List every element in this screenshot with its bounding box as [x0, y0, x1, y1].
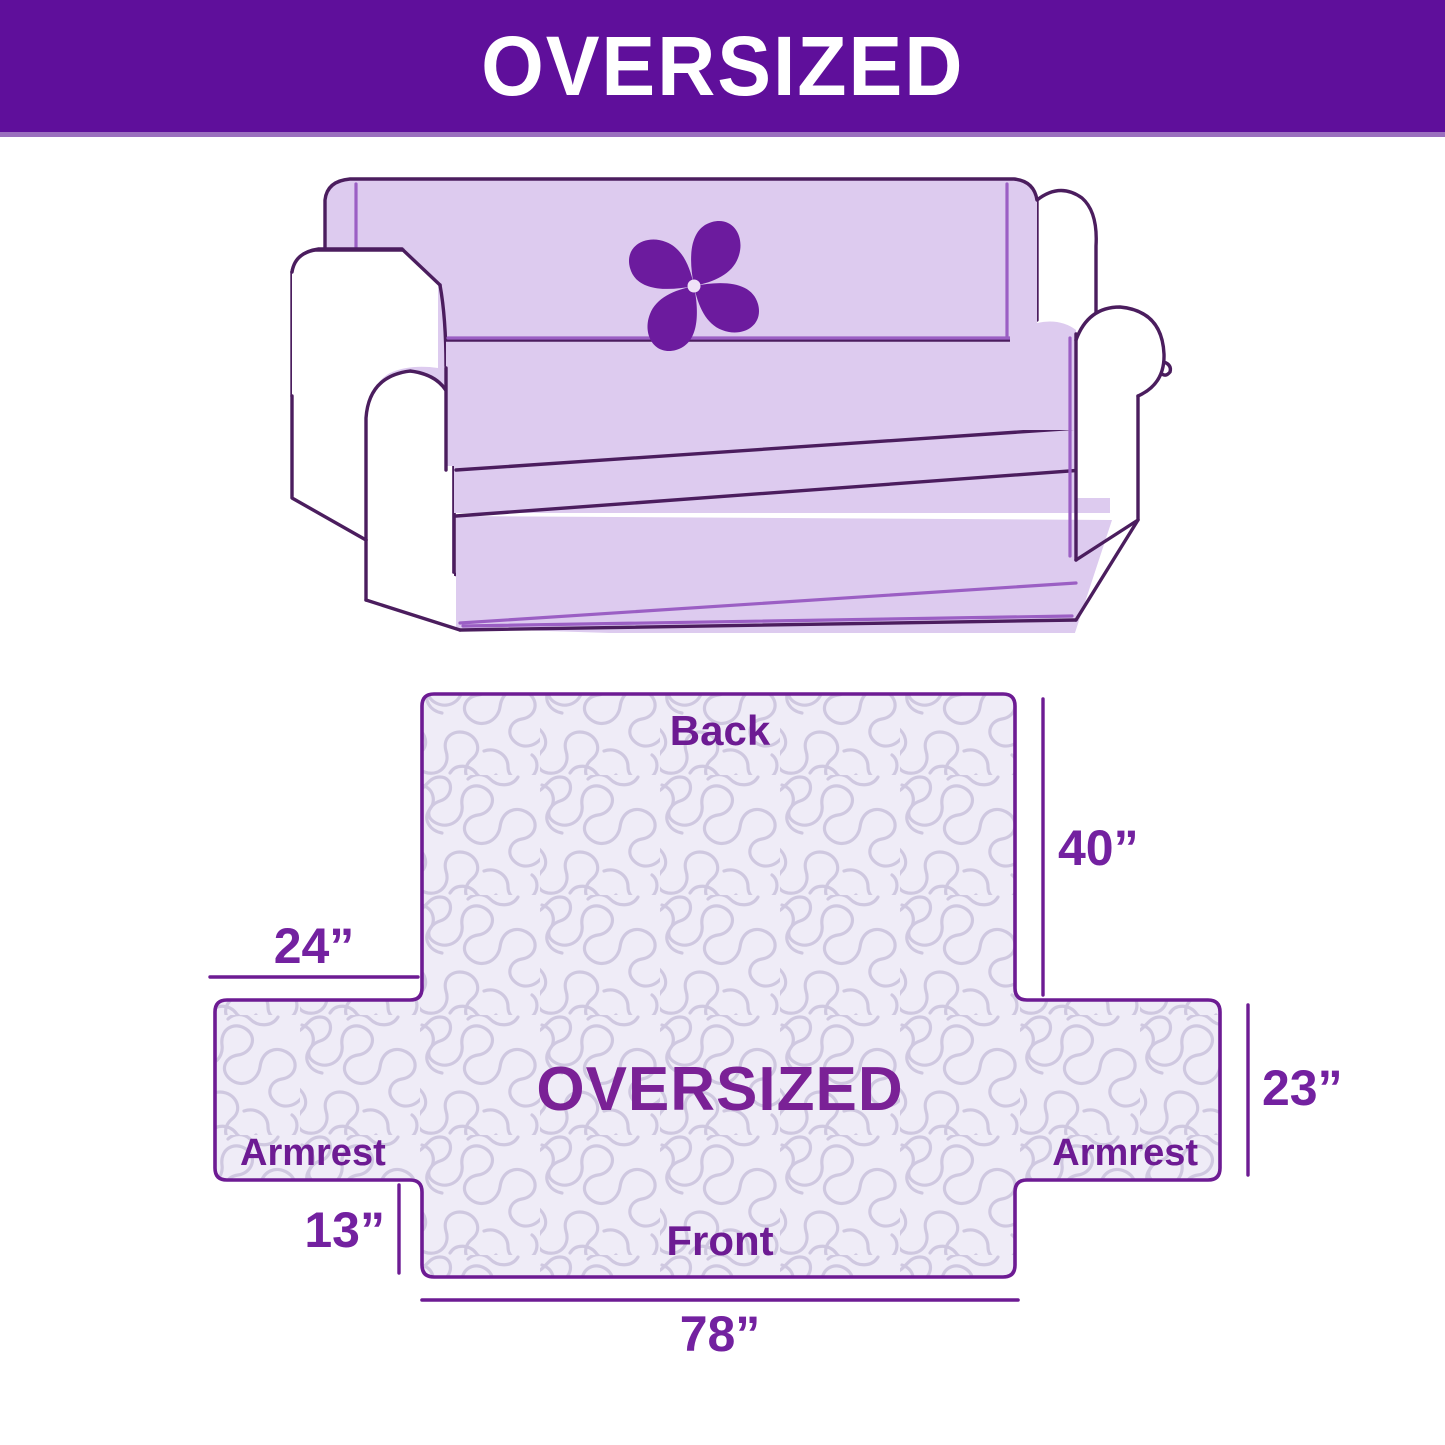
- dimension-value-40: 40”: [1058, 820, 1139, 876]
- panel-label-front: Front: [666, 1217, 773, 1264]
- dimension-front-skirt: 13”: [304, 1185, 399, 1273]
- pinwheel-fan-icon: [629, 221, 759, 351]
- sofa-illustration: .ln { fill:none; stroke:#4b1d5e; stroke-…: [270, 168, 1190, 633]
- dimension-armrest-height: 23”: [1248, 1005, 1343, 1175]
- panel-label-back: Back: [670, 707, 771, 754]
- dimension-value-78: 78”: [680, 1306, 761, 1355]
- dimension-back-height: 40”: [1043, 699, 1139, 995]
- flat-layout-diagram: Back OVERSIZED Armrest Armrest Front 40”…: [180, 655, 1360, 1355]
- cover-cross-shape: [215, 694, 1220, 1277]
- panel-label-armrest-left: Armrest: [240, 1132, 386, 1174]
- header-banner: OVERSIZED: [0, 0, 1445, 132]
- dimension-value-13: 13”: [304, 1202, 385, 1258]
- dimension-total-width: 78”: [422, 1300, 1018, 1355]
- header-banner-underline: [0, 132, 1445, 137]
- dimension-value-24: 24”: [274, 918, 355, 974]
- dimension-armrest-drop: 24”: [210, 918, 418, 977]
- page-title: OVERSIZED: [481, 24, 964, 108]
- dimension-value-23: 23”: [1262, 1060, 1343, 1116]
- panel-label-armrest-right: Armrest: [1052, 1132, 1198, 1174]
- center-label-oversized: OVERSIZED: [536, 1055, 903, 1124]
